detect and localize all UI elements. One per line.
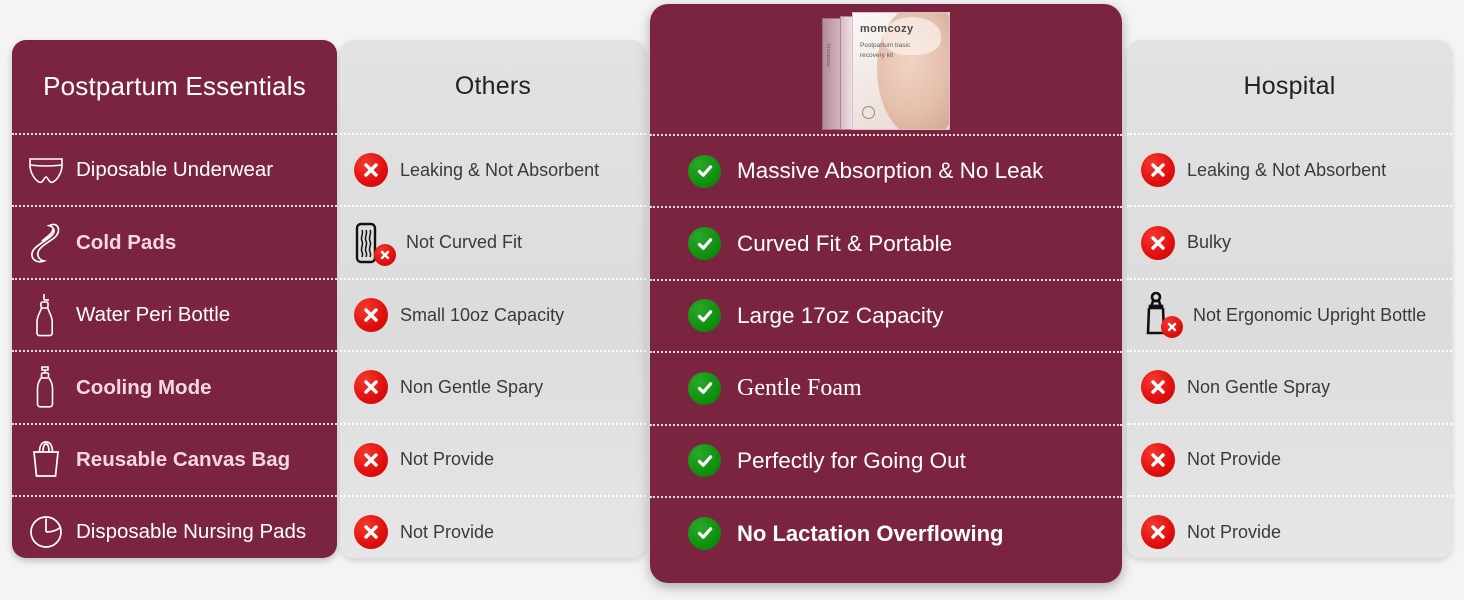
cold-pad-icon [26,221,66,265]
cross-icon [354,153,388,187]
row-label: Leaking & Not Absorbent [1175,160,1386,181]
column-hospital: Hospital Leaking & Not Absorbent Bulky [1127,40,1452,558]
row-label: Large 17oz Capacity [721,303,943,329]
check-icon [688,372,721,405]
row-label: Cooling Mode [66,376,212,400]
check-icon [688,227,721,260]
table-row: Not Provide [340,495,646,558]
product-seal-icon [862,106,875,119]
product-image-header: momcozy momcozy Postpartum basic recover… [650,4,1122,134]
cross-icon [1141,370,1175,404]
product-box-side-brand: momcozy [826,43,832,67]
cross-icon [354,515,388,549]
row-label: Not Provide [1175,522,1281,543]
comparison-board: Postpartum Essentials Diposable Underwea… [0,0,1464,600]
peri-bottle-icon [26,293,66,337]
table-row: Non Gentle Spary [340,350,646,422]
column-header-hospital: Hospital [1127,40,1452,133]
cross-icon [354,370,388,404]
column-title-essentials: Postpartum Essentials [43,71,306,102]
product-subtitle-label: Postpartum basic recovery kit [860,41,914,61]
row-label: Water Peri Bottle [66,303,230,327]
table-row: Not Provide [1127,423,1452,495]
column-others: Others Leaking & Not Absorbent Not Cur [340,40,646,558]
row-label: No Lactation Overflowing [721,521,1003,546]
row-label: Cold Pads [66,231,176,255]
cross-icon [1141,443,1175,477]
row-label: Curved Fit & Portable [721,231,952,257]
row-label: Leaking & Not Absorbent [388,160,599,181]
column-title-others: Others [455,72,531,101]
table-row: Curved Fit & Portable [650,206,1122,278]
table-row: Not Provide [1127,495,1452,558]
row-label: Diposable Underwear [66,158,273,182]
table-row: Cold Pads [12,205,337,277]
row-label: Small 10oz Capacity [388,305,564,326]
row-label: Not Provide [1175,449,1281,470]
table-row: Leaking & Not Absorbent [1127,133,1452,205]
column-momcozy-hero: momcozy momcozy Postpartum basic recover… [650,4,1122,583]
product-brand-label: momcozy [860,23,914,35]
table-row: Cooling Mode [12,350,337,422]
nursing-pad-icon [26,510,66,554]
row-label: Perfectly for Going Out [721,448,966,474]
row-label: Disposable Nursing Pads [66,520,306,544]
table-row: No Lactation Overflowing [650,496,1122,568]
cross-icon [1141,153,1175,187]
column-postpartum-essentials: Postpartum Essentials Diposable Underwea… [12,40,337,558]
spray-bottle-icon [26,365,66,409]
table-row: Not Curved Fit [340,205,646,277]
row-label: Non Gentle Spary [388,377,543,398]
row-label: Bulky [1175,232,1231,253]
table-row: Not Ergonomic Upright Bottle [1127,278,1452,350]
row-label: Not Provide [388,449,494,470]
cross-icon [1141,226,1175,260]
product-box-image: momcozy momcozy Postpartum basic recover… [822,12,950,130]
row-label: Reusable Canvas Bag [66,448,290,472]
table-row: Water Peri Bottle [12,278,337,350]
table-row: Leaking & Not Absorbent [340,133,646,205]
row-label: Not Curved Fit [394,232,522,253]
tote-bag-icon [26,438,66,482]
column-header-essentials: Postpartum Essentials [12,40,337,133]
table-row: Not Provide [340,423,646,495]
row-label: Non Gentle Spray [1175,377,1330,398]
column-title-hospital: Hospital [1244,72,1336,101]
table-row: Small 10oz Capacity [340,278,646,350]
table-row: Reusable Canvas Bag [12,423,337,495]
table-row: Disposable Nursing Pads [12,495,337,558]
cross-icon [354,298,388,332]
column-header-others: Others [340,40,646,133]
table-row: Diposable Underwear [12,133,337,205]
check-icon [688,299,721,332]
check-icon [688,155,721,188]
cross-badge-icon [1161,316,1183,338]
row-label: Not Ergonomic Upright Bottle [1181,305,1426,326]
straight-pad-x-icon [354,219,394,267]
underwear-icon [26,148,66,192]
cross-icon [354,443,388,477]
table-row: Large 17oz Capacity [650,279,1122,351]
check-icon [688,517,721,550]
table-row: Non Gentle Spray [1127,350,1452,422]
check-icon [688,444,721,477]
cross-icon [1141,515,1175,549]
bottle-x-icon [1141,291,1181,339]
table-row: Perfectly for Going Out [650,424,1122,496]
row-label: Massive Absorption & No Leak [721,158,1043,184]
product-box-front-face: momcozy Postpartum basic recovery kit [852,12,950,130]
table-row: Bulky [1127,205,1452,277]
row-label: Gentle Foam [721,375,862,403]
cross-badge-icon [374,244,396,266]
table-row: Massive Absorption & No Leak [650,134,1122,206]
table-row: Gentle Foam [650,351,1122,423]
row-label: Not Provide [388,522,494,543]
